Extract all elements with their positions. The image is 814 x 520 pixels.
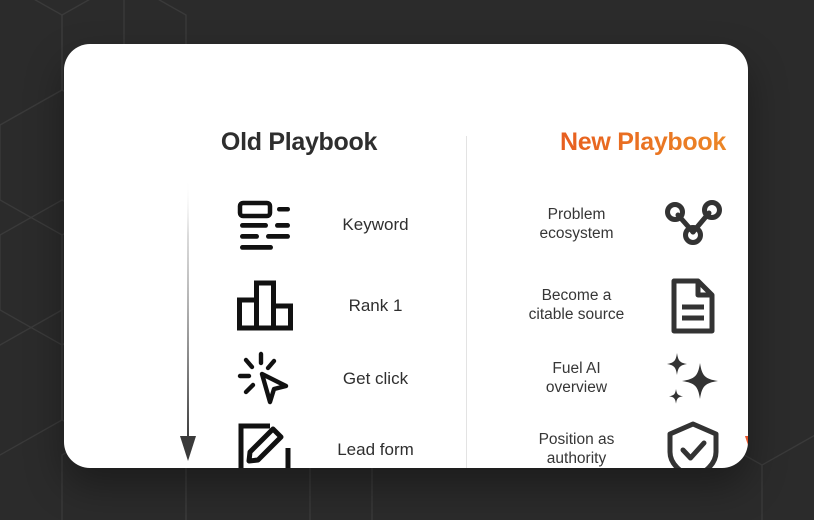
- slide-canvas: Old Playbook New Playbook: [0, 0, 814, 520]
- new-item-label-line1: Fuel AI: [552, 360, 600, 377]
- new-item-label-line1: Become a: [542, 287, 612, 304]
- old-item-get-click: Get click: [234, 348, 449, 410]
- sparkles-icon: [662, 348, 724, 410]
- new-item-label: Position as authority: [499, 431, 662, 468]
- old-item-rank-1: Rank 1: [234, 275, 449, 337]
- new-item-become-a-citable-source: Become a citable source: [499, 275, 724, 337]
- keyword-list-icon: [234, 194, 296, 256]
- edit-form-icon: [234, 419, 296, 468]
- new-item-label-line1: Position as: [539, 431, 615, 448]
- new-item-label-line2: authority: [547, 450, 606, 467]
- old-item-lead-form: Lead form: [234, 419, 449, 468]
- new-item-label: Fuel AI overview: [499, 360, 662, 397]
- new-item-label: Problem ecosystem: [499, 206, 662, 243]
- old-playbook-title: Old Playbook: [144, 128, 454, 157]
- comparison-card: Old Playbook New Playbook: [64, 44, 748, 468]
- old-item-keyword: Keyword: [234, 194, 449, 256]
- new-item-label-line1: Problem: [548, 206, 606, 223]
- old-item-label: Rank 1: [296, 296, 449, 316]
- old-item-label: Lead form: [296, 440, 449, 460]
- network-share-icon: [662, 194, 724, 256]
- new-item-label-line2: citable source: [529, 306, 625, 323]
- new-item-label: Become a citable source: [499, 287, 662, 324]
- old-item-label: Get click: [296, 369, 449, 389]
- new-item-fuel-ai-overview: Fuel AI overview: [499, 348, 724, 410]
- new-item-label-line2: ecosystem: [539, 225, 613, 242]
- old-playbook-down-arrow: [177, 178, 199, 468]
- column-divider: [466, 136, 467, 468]
- new-item-position-as-authority: Position as authority: [499, 419, 724, 468]
- new-item-label-line2: overview: [546, 379, 607, 396]
- shield-check-icon: [662, 419, 724, 468]
- document-icon: [662, 275, 724, 337]
- new-playbook-down-arrow: [742, 178, 748, 468]
- click-cursor-icon: [234, 348, 296, 410]
- bar-chart-icon: [234, 275, 296, 337]
- old-item-label: Keyword: [296, 215, 449, 235]
- new-item-problem-ecosystem: Problem ecosystem: [499, 194, 724, 256]
- new-playbook-title: New Playbook: [480, 128, 748, 157]
